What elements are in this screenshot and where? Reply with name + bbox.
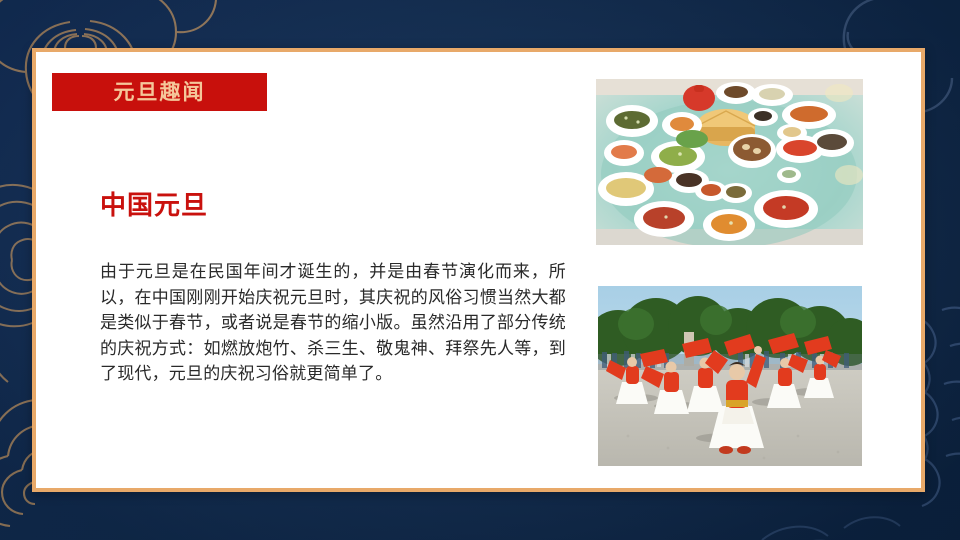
slide-canvas: 元旦趣闻 中国元旦 由于元旦是在民国年间才诞生的，并是由春节演化而来，所以，在中… — [0, 0, 960, 540]
section-title-text: 元旦趣闻 — [114, 82, 206, 103]
section-title-banner: 元旦趣闻 — [52, 73, 267, 111]
content-card: 元旦趣闻 中国元旦 由于元旦是在民国年间才诞生的，并是由春节演化而来，所以，在中… — [32, 48, 925, 492]
body-paragraph: 由于元旦是在民国年间才诞生的，并是由春节演化而来，所以，在中国刚刚开始庆祝元旦时… — [100, 259, 566, 387]
page-title: 中国元旦 — [100, 192, 208, 218]
chinese-banquet-feast-photo — [596, 79, 863, 245]
content-card-inner: 元旦趣闻 中国元旦 由于元旦是在民国年间才诞生的，并是由春节演化而来，所以，在中… — [36, 52, 921, 488]
folk-dance-performance-photo — [598, 286, 862, 466]
